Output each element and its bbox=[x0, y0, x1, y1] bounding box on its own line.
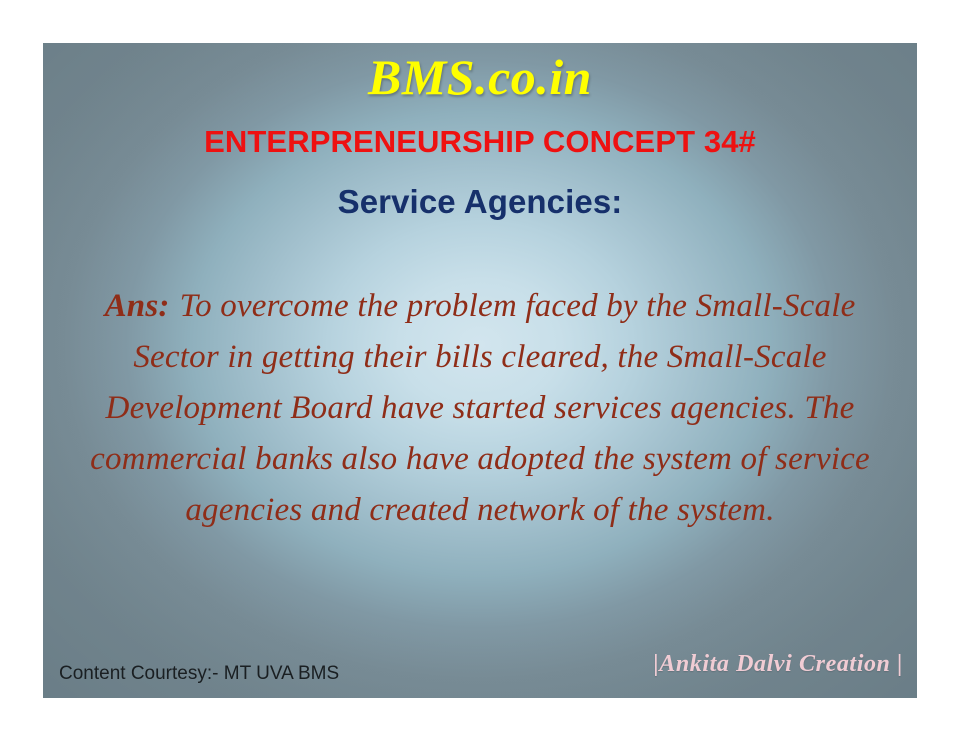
presentation-slide: BMS.co.in ENTERPRENEURSHIP CONCEPT 34# S… bbox=[43, 43, 917, 698]
footer-creation-credit: |Ankita Dalvi Creation | bbox=[653, 651, 903, 678]
concept-subtitle: ENTERPRENEURSHIP CONCEPT 34# bbox=[43, 125, 917, 159]
page-canvas: BMS.co.in ENTERPRENEURSHIP CONCEPT 34# S… bbox=[0, 0, 960, 742]
answer-text: To overcome the problem faced by the Sma… bbox=[90, 288, 870, 528]
answer-label: Ans: bbox=[105, 288, 170, 324]
slide-content-area: BMS.co.in ENTERPRENEURSHIP CONCEPT 34# S… bbox=[43, 43, 917, 698]
section-heading: Service Agencies: bbox=[43, 184, 917, 220]
footer-content-courtesy: Content Courtesy:- MT UVA BMS bbox=[59, 663, 339, 685]
answer-body: Ans:To overcome the problem faced by the… bbox=[61, 281, 899, 536]
brand-title: BMS.co.in bbox=[43, 51, 917, 104]
